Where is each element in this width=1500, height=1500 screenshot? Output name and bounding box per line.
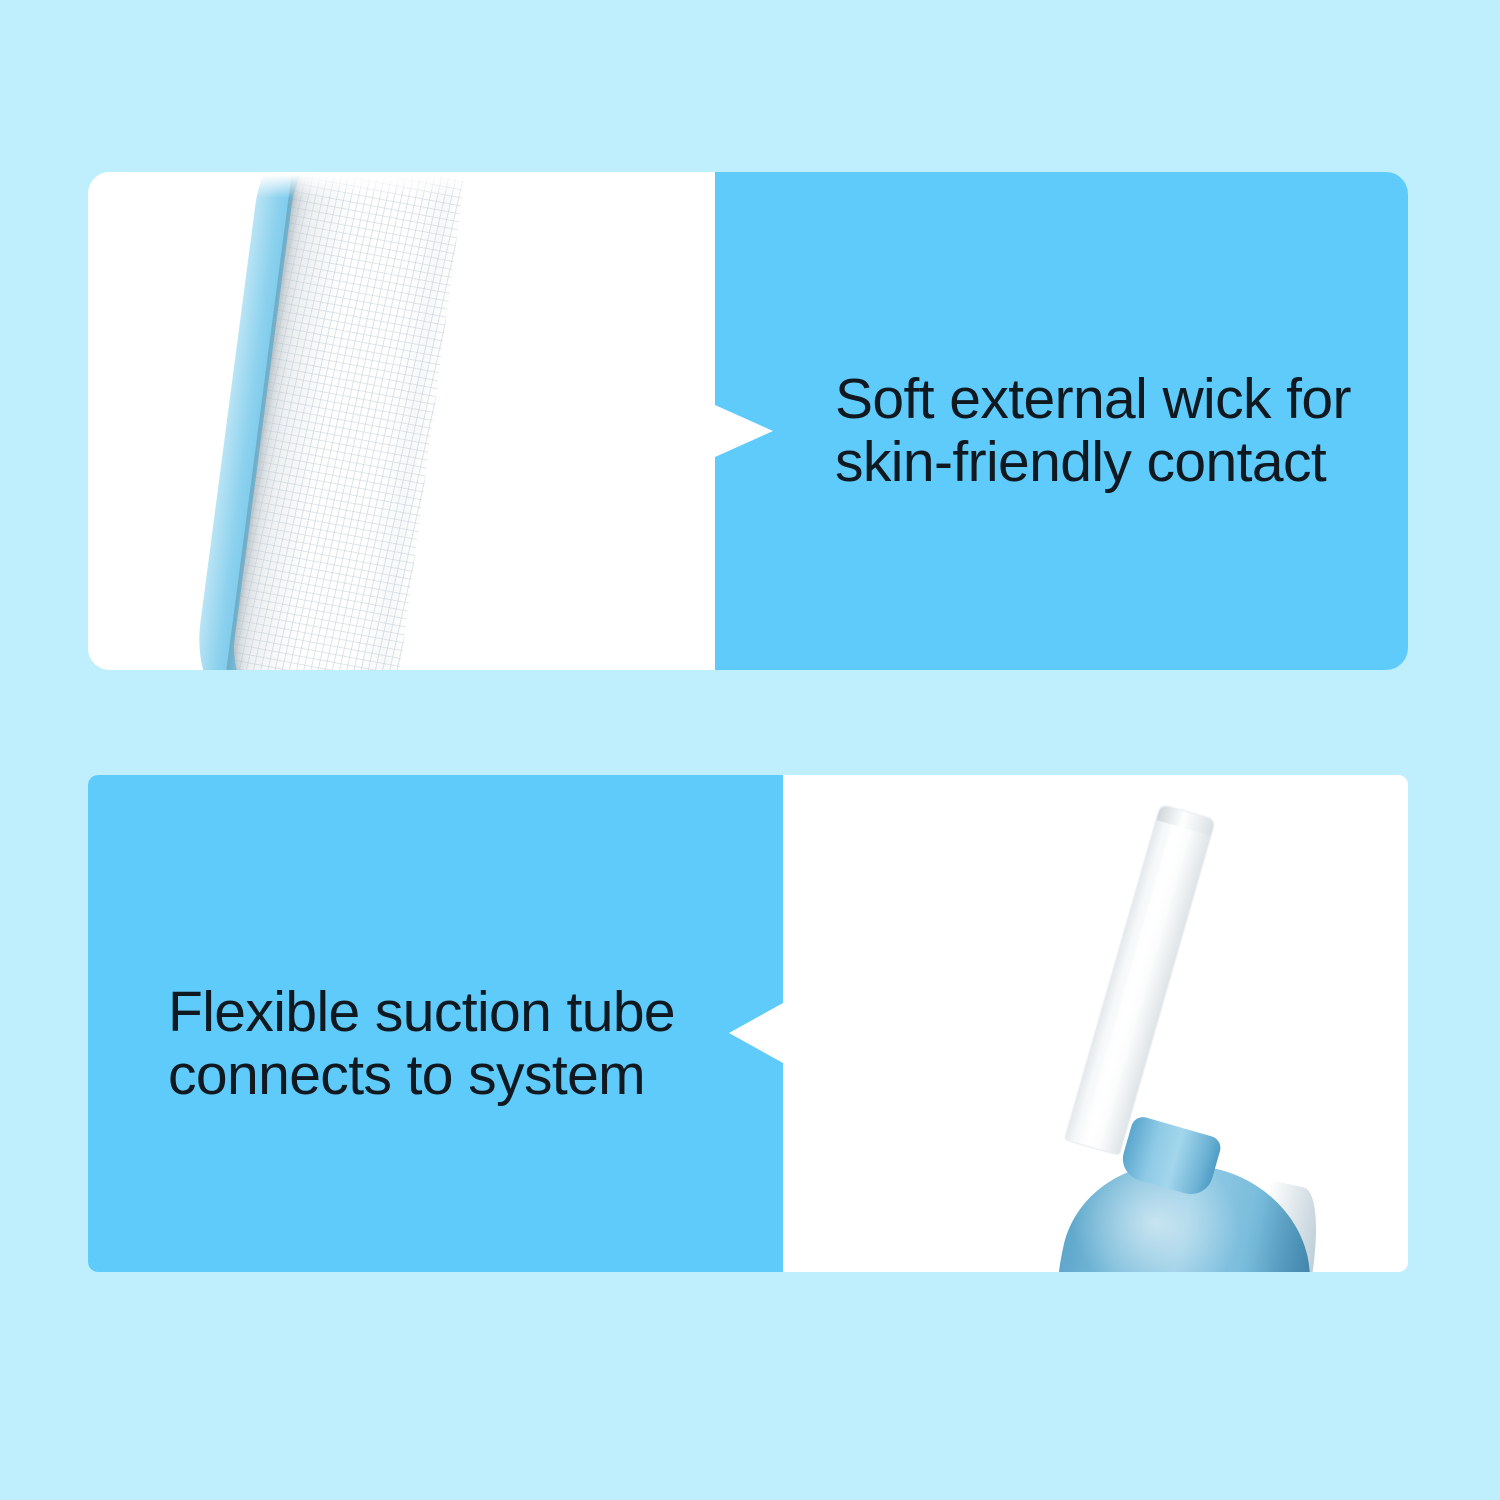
tube-open-tip [1157, 805, 1215, 836]
suction-tube-graphic [1065, 805, 1215, 1155]
product-photo-suction-tube [783, 775, 1408, 1272]
tube-highlight [1084, 815, 1186, 1135]
feature-callout-board: Soft external wick for skin-friendly con… [0, 0, 1500, 1500]
feature-panel-soft-wick: Soft external wick for skin-friendly con… [88, 172, 1408, 670]
caption-line-1: Flexible suction tube [168, 981, 728, 1044]
caption-line-2: skin-friendly contact [835, 431, 1395, 494]
caption-line-1: Soft external wick for [835, 368, 1395, 431]
photo-edge-fade [455, 172, 715, 670]
bulb-shading [1207, 1180, 1330, 1272]
callout-pointer-icon [715, 405, 773, 457]
callout-pointer-icon [729, 1003, 783, 1063]
product-photo-soft-wick [88, 172, 715, 670]
feature-panel-suction-tube: Flexible suction tube connects to system [88, 775, 1408, 1272]
caption-block-soft-wick: Soft external wick for skin-friendly con… [835, 368, 1395, 494]
caption-block-suction-tube: Flexible suction tube connects to system [168, 981, 728, 1107]
caption-line-2: connects to system [168, 1044, 728, 1107]
photo-edge-fade [783, 775, 933, 1272]
